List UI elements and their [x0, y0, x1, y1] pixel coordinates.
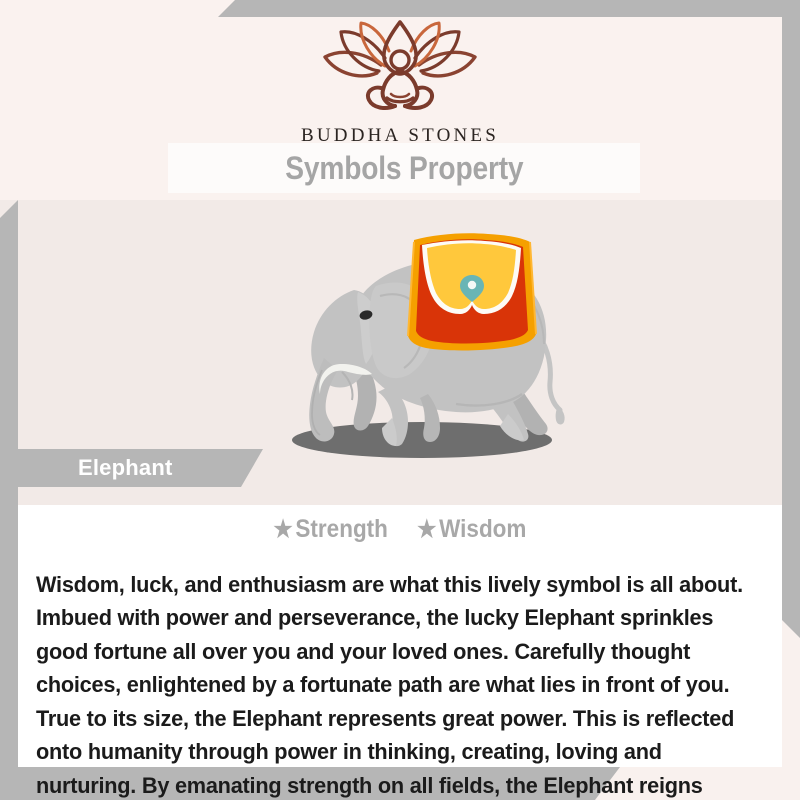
attributes-row: ★Strength ★Wisdom [18, 515, 782, 544]
attribute-label: Strength [296, 515, 389, 543]
decorative-bar-top [218, 0, 800, 17]
brand-header: BUDDHA STONES [0, 18, 800, 147]
attribute-strength: ★Strength [274, 515, 389, 544]
page-title: Symbols Property [285, 150, 523, 187]
page-title-band: Symbols Property [168, 143, 640, 193]
star-icon: ★ [417, 516, 436, 543]
decorative-bar-left [0, 200, 18, 800]
walking-elephant-illustration-icon [250, 218, 595, 483]
symbol-name-banner: Elephant [18, 449, 263, 487]
symbol-property-infographic: BUDDHA STONES Symbols Property [0, 0, 800, 800]
attribute-label: Wisdom [439, 515, 526, 543]
attribute-wisdom: ★Wisdom [417, 515, 526, 544]
star-icon: ★ [274, 516, 293, 543]
symbol-name: Elephant [78, 455, 173, 481]
lotus-meditation-logo-icon [0, 18, 800, 121]
symbol-description: Wisdom, luck, and enthusiasm are what th… [36, 568, 758, 800]
